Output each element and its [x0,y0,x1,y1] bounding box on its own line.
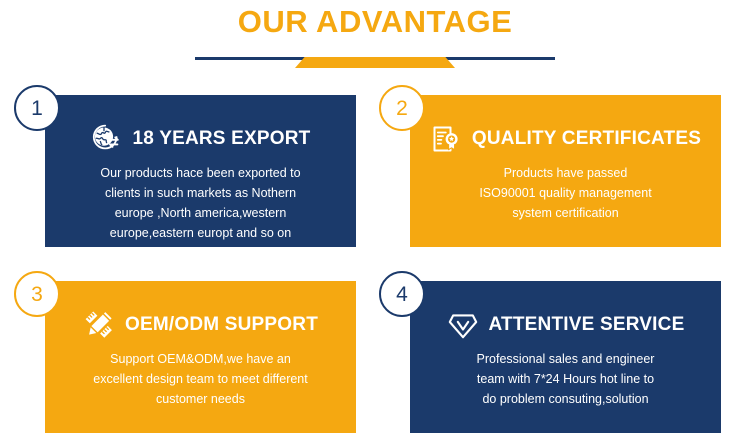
card-title-3: OEM/ODM SUPPORT [125,314,318,336]
card-body-line: ISO90001 quality management [424,183,707,203]
card-body-2: Products have passed ISO90001 quality ma… [424,163,707,223]
card-body-line: Products have passed [424,163,707,183]
advantage-card-1[interactable]: 18 YEARS EXPORT Our products hace been e… [45,95,356,247]
card-badge-3: 3 [14,271,60,317]
card-title-1: 18 YEARS EXPORT [133,128,311,150]
globe-exchange-icon [91,123,123,155]
card-body-line: customer needs [59,389,342,409]
card-body-line: excellent design team to meet different [59,369,342,389]
advantage-card-4[interactable]: ATTENTIVE SERVICE Professional sales and… [410,281,721,433]
card-body-line: Support OEM&ODM,we have an [59,349,342,369]
advantage-card-3[interactable]: OEM/ODM SUPPORT Support OEM&ODM,we have … [45,281,356,433]
card-body-line: europe ,North america,western [59,203,342,223]
pencil-ruler-icon [83,309,115,341]
diamond-check-icon [447,309,479,341]
card-badge-4: 4 [379,271,425,317]
card-header-3: OEM/ODM SUPPORT [45,307,356,343]
advantage-card-2[interactable]: QUALITY CERTIFICATES Products have passe… [410,95,721,247]
card-header-4: ATTENTIVE SERVICE [410,307,721,343]
card-title-2: QUALITY CERTIFICATES [472,128,701,150]
card-header-2: QUALITY CERTIFICATES [410,121,721,157]
card-body-line: team with 7*24 Hours hot line to [424,369,707,389]
card-body-4: Professional sales and engineer team wit… [424,349,707,409]
card-body-line: system certification [424,203,707,223]
card-header-1: 18 YEARS EXPORT [45,121,356,157]
card-body-line: do problem consuting,solution [424,389,707,409]
certificate-icon [430,123,462,155]
card-badge-2: 2 [379,85,425,131]
card-body-line: Professional sales and engineer [424,349,707,369]
card-body-line: Our products hace been exported to [59,163,342,183]
card-title-4: ATTENTIVE SERVICE [489,314,685,336]
advantage-card-grid: 18 YEARS EXPORT Our products hace been e… [0,0,750,445]
card-body-line: clients in such markets as Nothern [59,183,342,203]
card-body-3: Support OEM&ODM,we have an excellent des… [59,349,342,409]
card-badge-1: 1 [14,85,60,131]
card-body-1: Our products hace been exported to clien… [59,163,342,243]
card-body-line: europe,eastern europt and so on [59,223,342,243]
